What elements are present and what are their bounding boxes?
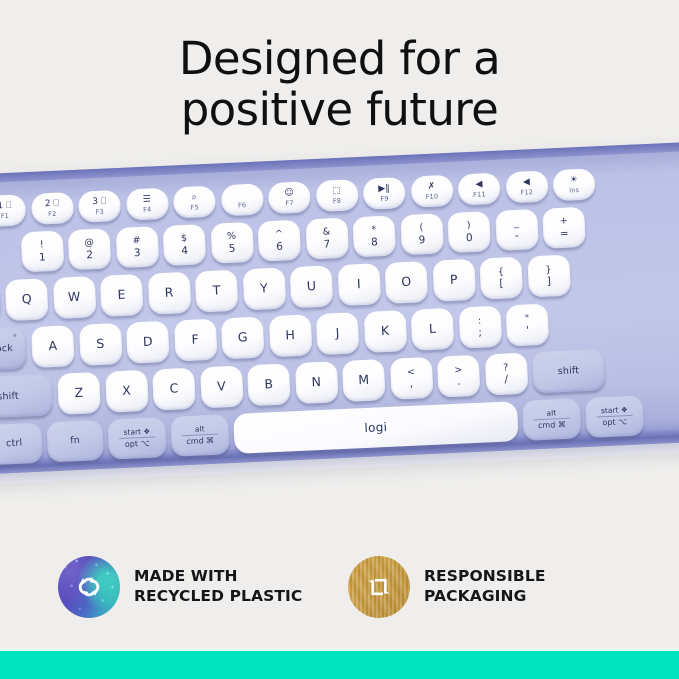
marketing-image: Designed for a positive future 1 ⎕F12 ⎕F… — [0, 0, 679, 679]
punct-key-a-0[interactable]: :; — [458, 306, 502, 349]
recycle-loop-icon — [58, 556, 120, 618]
letter-key-q[interactable]: Q — [5, 278, 49, 321]
spacebar[interactable]: logi — [233, 401, 519, 454]
recycle-loop-svg — [72, 570, 106, 604]
package-recycle-icon — [348, 556, 410, 618]
function-key-f9[interactable]: ▶‖F9 — [363, 177, 406, 210]
keyboard-body: 1 ⎕F12 ⎕F23 ⎕F3☰F4⌕F5F6☺F7⬚F8▶‖F9✗F10◀F… — [0, 139, 679, 476]
app-switch-key: ☰ — [143, 195, 151, 204]
screenshot-key: ⬚ — [332, 187, 341, 196]
badge-recycled-line-1: MADE WITH — [134, 567, 302, 587]
badge-recycled-line-2: RECYCLED PLASTIC — [134, 587, 302, 607]
brightness-key: ☀ — [570, 176, 578, 185]
letter-key-y[interactable]: Y — [242, 267, 286, 310]
letter-key-j[interactable]: J — [316, 312, 360, 355]
punct-key-z-0[interactable]: <, — [389, 357, 433, 400]
device-1-key: 1 ⎕ — [0, 202, 12, 212]
letter-key-b[interactable]: B — [247, 363, 291, 406]
number-key-0[interactable]: )0 — [447, 211, 491, 253]
number-key-1[interactable]: !1 — [20, 231, 64, 273]
package-glyph — [348, 556, 410, 618]
letter-key-z[interactable]: Z — [57, 372, 101, 415]
device-3-key: 3 ⎕ — [92, 197, 106, 207]
device-2-key: 2 ⎕ — [45, 199, 59, 209]
number-key-4[interactable]: $4 — [162, 224, 206, 266]
letter-key-h[interactable]: H — [268, 314, 312, 357]
page-title: Designed for a positive future — [0, 34, 679, 136]
recycle-glyph — [58, 556, 120, 618]
function-key-f1[interactable]: 1 ⎕F1 — [0, 194, 26, 227]
letter-key-i[interactable]: I — [337, 263, 381, 306]
letter-key-c[interactable]: C — [152, 368, 196, 411]
play-pause-key: ▶‖ — [378, 184, 390, 194]
letter-key-x[interactable]: X — [105, 370, 149, 413]
number-key-6[interactable]: ^6 — [257, 220, 301, 262]
letter-key-g[interactable]: G — [221, 317, 265, 360]
function-key-f3[interactable]: 3 ⎕F3 — [78, 190, 121, 223]
alt-cmd-key-left[interactable]: altcmd ⌘ — [170, 414, 230, 457]
letter-key-p[interactable]: P — [432, 259, 476, 302]
volume-up-key: ◀ — [523, 178, 530, 187]
number-key-3[interactable]: #3 — [115, 226, 159, 268]
alt-cmd-key-right[interactable]: altcmd ⌘ — [522, 398, 582, 441]
function-key-f5[interactable]: ⌕F5 — [173, 186, 216, 219]
function-key-f10[interactable]: ✗F10 — [410, 175, 453, 208]
function-key-f7[interactable]: ☺F7 — [268, 181, 311, 214]
logi-wordmark: logi — [364, 420, 387, 435]
number-key-8[interactable]: *8 — [352, 215, 396, 257]
badge-packaging-line-2: PACKAGING — [424, 587, 546, 607]
letter-key-u[interactable]: U — [289, 265, 333, 308]
function-key-f4[interactable]: ☰F4 — [125, 188, 168, 221]
letter-key-m[interactable]: M — [342, 359, 386, 402]
caps-lock-key[interactable]: caps lock — [0, 327, 27, 371]
function-key-f2[interactable]: 2 ⎕F2 — [30, 192, 73, 225]
letter-key-e[interactable]: E — [100, 274, 144, 317]
sustainability-badges: MADE WITH RECYCLED PLASTIC RESPONSIBLE — [0, 546, 679, 636]
start-opt-key-right[interactable]: start ❖opt ⌥ — [585, 395, 645, 438]
letter-key-d[interactable]: D — [126, 321, 170, 364]
badge-responsible-packaging: RESPONSIBLE PACKAGING — [348, 556, 546, 618]
badge-recycled-plastic: MADE WITH RECYCLED PLASTIC — [58, 556, 302, 618]
letter-key-v[interactable]: V — [199, 366, 243, 409]
headline-line-2: positive future — [0, 85, 679, 136]
letter-key-t[interactable]: T — [195, 270, 239, 313]
letter-key-a[interactable]: A — [31, 325, 75, 368]
mute-key: ✗ — [428, 182, 436, 191]
letter-key-f[interactable]: F — [173, 319, 217, 362]
function-key-f8[interactable]: ⬚F8 — [315, 179, 358, 212]
accent-bar — [0, 651, 679, 679]
fn-key[interactable]: fn — [46, 420, 104, 462]
search-key: ⌕ — [192, 193, 197, 202]
letter-key-s[interactable]: S — [78, 323, 122, 366]
number-key-9[interactable]: (9 — [400, 213, 444, 255]
emoji-key: ☺ — [284, 189, 294, 198]
shift-key-left[interactable]: shift — [0, 374, 53, 419]
letter-key-n[interactable]: N — [294, 361, 338, 404]
letter-key-o[interactable]: O — [384, 261, 428, 304]
function-key-f12[interactable]: ◀F12 — [505, 170, 548, 203]
number-key-5[interactable]: %5 — [210, 222, 254, 264]
tab-key[interactable]: tab — [0, 280, 1, 324]
caps-lock-led — [13, 334, 16, 337]
punct-key-a-1[interactable]: "' — [505, 304, 549, 347]
punct-key-z-1[interactable]: >. — [437, 355, 481, 398]
shift-key-right[interactable]: shift — [532, 349, 606, 393]
number-key-2[interactable]: @2 — [68, 228, 112, 270]
function-key-f11[interactable]: ◀F11 — [457, 173, 500, 206]
badge-packaging-line-1: RESPONSIBLE — [424, 567, 546, 587]
ctrl-key-left[interactable]: ctrl — [0, 423, 43, 465]
keyboard-keys: 1 ⎕F12 ⎕F23 ⎕F3☰F4⌕F5F6☺F7⬚F8▶‖F9✗F10◀F… — [0, 139, 679, 476]
product-keyboard: 1 ⎕F12 ⎕F23 ⎕F3☰F4⌕F5F6☺F7⬚F8▶‖F9✗F10◀F… — [0, 139, 679, 506]
letter-key-w[interactable]: W — [52, 276, 96, 319]
letter-key-l[interactable]: L — [411, 308, 455, 351]
package-recycle-svg — [363, 571, 395, 603]
bracket-key-0[interactable]: {[ — [479, 257, 523, 300]
function-key-f6[interactable]: F6 — [220, 183, 263, 216]
badge-recycled-plastic-text: MADE WITH RECYCLED PLASTIC — [134, 567, 302, 607]
number-key-7[interactable]: &7 — [305, 218, 349, 260]
volume-down-key: ◀ — [475, 180, 482, 189]
letter-key-k[interactable]: K — [363, 310, 407, 353]
start-opt-key-left[interactable]: start ❖opt ⌥ — [107, 417, 167, 460]
number-key--[interactable]: _- — [495, 209, 539, 251]
letter-key-r[interactable]: R — [147, 272, 191, 315]
punct-key-z-2[interactable]: ?/ — [484, 353, 528, 396]
bracket-key-1[interactable]: }] — [527, 255, 571, 298]
function-key-lns[interactable]: ☀lns — [552, 168, 595, 201]
badge-packaging-text: RESPONSIBLE PACKAGING — [424, 567, 546, 607]
number-key-=[interactable]: += — [542, 207, 586, 249]
headline-line-1: Designed for a — [0, 34, 679, 85]
